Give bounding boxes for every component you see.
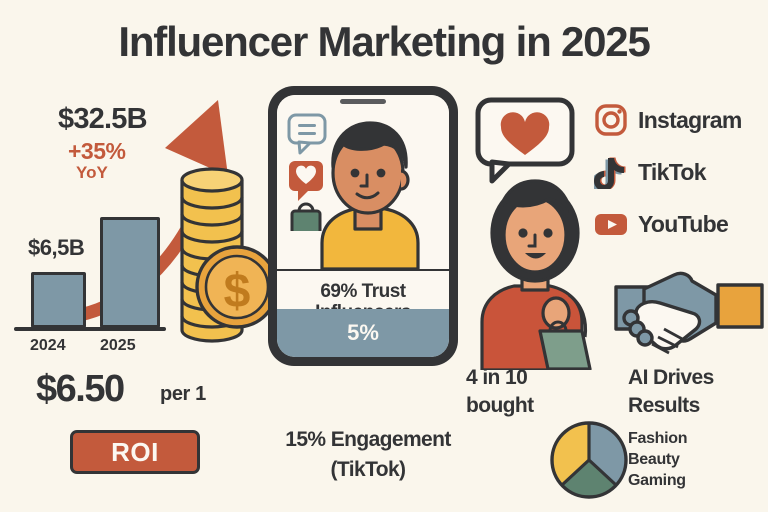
platform-row-youtube[interactable]: YouTube [594,207,728,241]
growth-rate: +35% [68,138,125,165]
platform-row-instagram[interactable]: Instagram [594,103,742,137]
ai-headline-line2: Results [628,394,700,418]
pie-legend-beauty: Beauty [628,451,680,469]
platform-label-tiktok: TikTok [638,159,706,186]
phone-screen: 69% Trust Influencers 5% [277,95,449,357]
phone-mockup: 69% Trust Influencers 5% [268,86,458,366]
axis-tick-2024: 2024 [30,337,66,355]
category-pie-chart [549,420,629,500]
growth-period-label: YoY [76,163,108,183]
handshake-icon [614,255,764,365]
roi-badge[interactable]: ROI [70,430,200,474]
svg-text:$: $ [224,265,251,318]
phone-engagement-bar: 5% [277,309,449,357]
pie-legend-gaming: Gaming [628,472,686,490]
chat-bubble-icon [289,115,325,153]
axis-tick-2025: 2025 [100,337,136,355]
shopper-illustration [464,165,616,370]
bar-value-label-2024: $6,5B [28,235,84,261]
youtube-icon [594,207,628,241]
platform-row-tiktok[interactable]: TikTok [594,155,706,189]
roi-suffix: per 1 [160,383,206,406]
instagram-icon [594,103,628,137]
platform-label-youtube: YouTube [638,211,728,238]
infographic-canvas: Influencer Marketing in 2025 $32.5B +35%… [0,0,768,512]
heart-bubble-icon [289,161,323,201]
trust-stat-line1: 69% Trust [320,282,405,303]
bar-2024 [31,272,86,328]
roi-value: $6.50 [36,368,124,411]
platform-label-instagram: Instagram [638,107,742,134]
bar-2025 [100,217,160,328]
phone-notch [340,99,386,104]
tiktok-icon [594,155,628,189]
purchase-stat-line2: bought [466,394,534,418]
market-value-2025: $32.5B [58,103,147,136]
chart-baseline [14,327,166,331]
pie-legend-fashion: Fashion [628,430,687,448]
engagement-caption-line2: (TikTok) [268,458,468,482]
shopping-bag-icon [292,204,320,231]
coin-stack-icon: $ [170,160,280,345]
influencer-photo [277,95,449,269]
ai-headline-line1: AI Drives [628,366,714,390]
purchase-stat-line1: 4 in 10 [466,366,527,390]
engagement-caption-line1: 15% Engagement [268,428,468,452]
page-title: Influencer Marketing in 2025 [0,18,768,66]
